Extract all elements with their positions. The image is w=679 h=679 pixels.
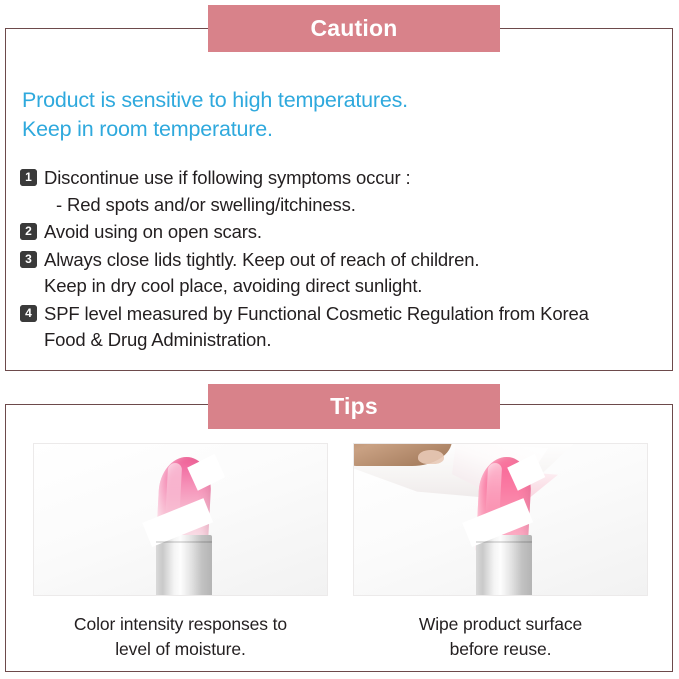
lipstick-base-ring xyxy=(476,541,532,543)
tip-caption-line-1: Color intensity responses to xyxy=(33,612,328,637)
list-item-subtext: - Red spots and/or swelling/itchiness. xyxy=(20,192,670,219)
tip-caption-line-1: Wipe product surface xyxy=(353,612,648,637)
caution-list-item: 2 Avoid using on open scars. xyxy=(20,219,670,246)
lipstick-base xyxy=(156,535,212,596)
tip-caption: Color intensity responses to level of mo… xyxy=(33,612,328,662)
caution-list: 1 Discontinue use if following symptoms … xyxy=(20,165,670,355)
list-number-badge: 1 xyxy=(20,169,37,186)
caution-list-item: 3 Always close lids tightly. Keep out of… xyxy=(20,247,670,300)
lipstick-base-ring xyxy=(156,541,212,543)
tip-caption-line-2: before reuse. xyxy=(353,637,648,662)
lipstick-color-gradient-photo xyxy=(33,443,328,596)
tips-box: Color intensity responses to level of mo… xyxy=(5,404,673,672)
caution-lead-line-2: Keep in room temperature. xyxy=(22,115,652,144)
product-caution-tips-page: Product is sensitive to high temperature… xyxy=(0,0,679,679)
caution-banner: Caution xyxy=(208,5,500,52)
tissue-illustration xyxy=(353,443,573,518)
list-number-badge: 4 xyxy=(20,305,37,322)
tip-panel-wipe-surface: Wipe product surface before reuse. xyxy=(353,443,648,662)
caution-lead-text: Product is sensitive to high temperature… xyxy=(22,86,652,144)
caution-list-item: 1 Discontinue use if following symptoms … xyxy=(20,165,670,218)
tissue-wiping-lipstick-photo xyxy=(353,443,648,596)
list-item-text: SPF level measured by Functional Cosmeti… xyxy=(44,301,589,328)
list-item-text: Always close lids tightly. Keep out of r… xyxy=(44,247,479,274)
list-number-badge: 2 xyxy=(20,223,37,240)
tip-panel-color-intensity: Color intensity responses to level of mo… xyxy=(33,443,328,662)
caution-lead-line-1: Product is sensitive to high temperature… xyxy=(22,86,652,115)
lipstick-base xyxy=(476,535,532,596)
list-number-badge: 3 xyxy=(20,251,37,268)
list-item-text: Discontinue use if following symptoms oc… xyxy=(44,165,410,192)
lipstick-illustration xyxy=(476,457,532,596)
list-item-continuation: Food & Drug Administration. xyxy=(20,327,670,354)
list-item-text: Avoid using on open scars. xyxy=(44,219,262,246)
list-item-continuation: Keep in dry cool place, avoiding direct … xyxy=(20,273,670,300)
hand-illustration xyxy=(353,443,452,466)
fingernail xyxy=(418,450,444,464)
caution-section: Product is sensitive to high temperature… xyxy=(0,0,679,372)
tip-caption: Wipe product surface before reuse. xyxy=(353,612,648,662)
tip-caption-line-2: level of moisture. xyxy=(33,637,328,662)
caution-list-item: 4 SPF level measured by Functional Cosme… xyxy=(20,301,670,354)
lipstick-bullet-cut xyxy=(187,454,225,491)
caution-box: Product is sensitive to high temperature… xyxy=(5,28,673,371)
lipstick-illustration xyxy=(156,457,212,596)
